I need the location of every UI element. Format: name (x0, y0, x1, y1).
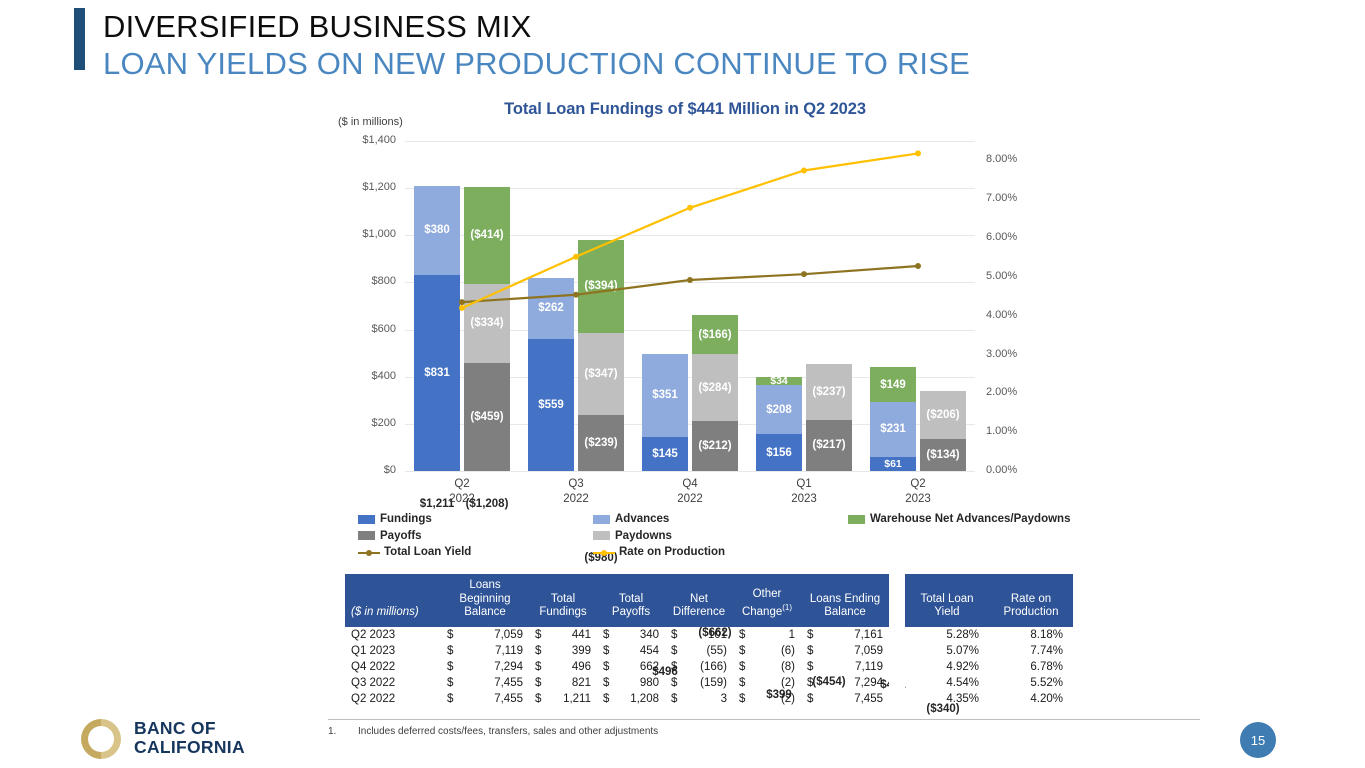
bar-segment: ($217) (806, 420, 852, 471)
legend-label: Rate on Production (619, 546, 725, 558)
table-column-header-line: Difference (671, 606, 727, 620)
y-axis-tick-left: $400 (372, 370, 405, 382)
legend-item[interactable]: Fundings (358, 513, 432, 525)
table-cell-currency-symbol: $ (529, 627, 547, 643)
bar-segment: $262 (528, 278, 574, 340)
bar-segment: $831 (414, 275, 460, 471)
table-cell-gap (889, 659, 905, 675)
footnote-text: Includes deferred costs/fees, transfers,… (358, 726, 658, 737)
bar-segment: ($347) (578, 333, 624, 415)
table-cell-total-payoffs: 1,208 (615, 691, 665, 707)
slide: DIVERSIFIED BUSINESS MIX LOAN YIELDS ON … (0, 0, 1365, 768)
table-cell-loans-beginning-balance: 7,059 (459, 627, 529, 643)
table-header: ($ in millions)LoansBeginningBalanceTota… (345, 574, 1073, 627)
bar-segment: ($206) (920, 391, 966, 440)
legend-label: Payoffs (380, 530, 422, 542)
table-cell-other-change: (8) (751, 659, 801, 675)
y-axis-tick-right: 7.00% (975, 192, 1017, 204)
table-cell-total-fundings: 1,211 (547, 691, 597, 707)
x-axis-category-line: 2022 (642, 492, 738, 507)
bar-group: $145$351$496($212)($284)($166)($662) (642, 141, 738, 471)
bar-segment: ($284) (692, 354, 738, 421)
table-cell-currency-symbol: $ (441, 627, 459, 643)
legend-swatch-icon (358, 515, 375, 524)
table-column-header-line: Balance (447, 606, 523, 620)
table-column-header-line: Fundings (535, 606, 591, 620)
table-column-header: Loans EndingBalance (801, 574, 889, 627)
table-cell-period: Q3 2022 (345, 675, 441, 691)
bar-segment: ($239) (578, 415, 624, 471)
legend-line-icon (358, 548, 380, 557)
bar-group: $61$231$149$441($134)($206)($340) (870, 141, 966, 471)
x-axis-category-line: Q3 (528, 477, 624, 492)
table-cell-total-fundings: 441 (547, 627, 597, 643)
footnote-marker: (1) (782, 603, 792, 612)
legend-row: PayoffsPaydowns (358, 530, 1058, 547)
table-cell-net-difference: (159) (683, 675, 733, 691)
y-axis-tick-right: 6.00% (975, 231, 1017, 243)
table-cell-rate-on-production: 5.52% (989, 675, 1073, 691)
table-cell-currency-symbol: $ (529, 643, 547, 659)
table-cell-loans-ending-balance: 7,455 (819, 691, 889, 707)
company-logo: BANC OF CALIFORNIA (78, 714, 338, 764)
table-column-header: ($ in millions) (345, 574, 441, 627)
table-cell-currency-symbol: $ (801, 675, 819, 691)
slide-header: DIVERSIFIED BUSINESS MIX LOAN YIELDS ON … (0, 0, 1365, 92)
table-cell-currency-symbol: $ (665, 643, 683, 659)
table-cell-currency-symbol: $ (665, 659, 683, 675)
table-column-header-line: Beginning (447, 593, 523, 607)
table-header-row: ($ in millions)LoansBeginningBalanceTota… (345, 574, 1073, 627)
page-title: DIVERSIFIED BUSINESS MIX (103, 9, 532, 45)
table-cell-currency-symbol: $ (597, 627, 615, 643)
y-axis-tick-right: 2.00% (975, 386, 1017, 398)
table-cell-period: Q4 2022 (345, 659, 441, 675)
y-axis-tick-left: $200 (372, 417, 405, 429)
y-axis-tick-right: 8.00% (975, 153, 1017, 165)
table-cell-other-change: (2) (751, 691, 801, 707)
legend-swatch-icon (593, 515, 610, 524)
financial-table-container: ($ in millions)LoansBeginningBalanceTota… (345, 574, 1073, 707)
table-cell-loans-beginning-balance: 7,119 (459, 643, 529, 659)
table-cell-currency-symbol: $ (733, 691, 751, 707)
table-column-header-line: Production (995, 606, 1067, 620)
bar-group: $156$208$34$399($217)($237)($454) (756, 141, 852, 471)
legend-label: Advances (615, 513, 669, 525)
table-cell-gap (889, 675, 905, 691)
table-column-header: NetDifference (665, 574, 733, 627)
table-cell-loans-beginning-balance: 7,455 (459, 691, 529, 707)
legend-line-icon (593, 548, 615, 557)
bar-segment: ($166) (692, 315, 738, 354)
table-cell-currency-symbol: $ (441, 643, 459, 659)
table-cell-loans-ending-balance: 7,059 (819, 643, 889, 659)
table-cell-currency-symbol: $ (441, 691, 459, 707)
table-column-header: TotalFundings (529, 574, 597, 627)
table-cell-currency-symbol: $ (597, 691, 615, 707)
legend-item[interactable]: Rate on Production (593, 546, 725, 558)
table-cell-gap (889, 691, 905, 707)
logo-line-1: BANC OF (134, 719, 245, 738)
chart-units-label: ($ in millions) (338, 116, 403, 128)
bar-segment: $380 (414, 186, 460, 276)
table-cell-currency-symbol: $ (733, 675, 751, 691)
table-cell-currency-symbol: $ (529, 691, 547, 707)
bar-segment: ($237) (806, 364, 852, 420)
table-cell-currency-symbol: $ (665, 691, 683, 707)
table-column-header: TotalPayoffs (597, 574, 665, 627)
table-cell-net-difference: 3 (683, 691, 733, 707)
table-cell-loans-ending-balance: 7,119 (819, 659, 889, 675)
y-axis-tick-right: 1.00% (975, 425, 1017, 437)
table-column-header-line: Loans Ending (807, 593, 883, 607)
table-cell-loans-beginning-balance: 7,455 (459, 675, 529, 691)
table-cell-currency-symbol: $ (529, 675, 547, 691)
table-column-header-line: Other (739, 588, 795, 602)
table-row: Q3 2022$7,455$821$980$(159)$(2)$7,2944.5… (345, 675, 1073, 691)
table-cell-currency-symbol: $ (801, 691, 819, 707)
table-row: Q2 2023$7,059$441$340$101$1$7,1615.28%8.… (345, 627, 1073, 643)
table-cell-currency-symbol: $ (597, 659, 615, 675)
table-cell-currency-symbol: $ (441, 659, 459, 675)
table-cell-currency-symbol: $ (733, 643, 751, 659)
x-axis-category-line: Q2 (870, 477, 966, 492)
table-cell-total-fundings: 821 (547, 675, 597, 691)
table-column-gap (889, 574, 905, 627)
table-column-header-line: Yield (911, 606, 983, 620)
logo-line-2: CALIFORNIA (134, 738, 245, 757)
x-axis-category-label: Q42022 (642, 477, 738, 507)
legend-item[interactable]: Advances (593, 513, 669, 525)
bar-segment: $156 (756, 434, 802, 471)
chart-title: Total Loan Fundings of $441 Million in Q… (330, 100, 1040, 119)
y-axis-tick-left: $600 (372, 323, 405, 335)
bar-segment: $231 (870, 402, 916, 456)
bar-segment: $149 (870, 367, 916, 402)
title-accent-bar (74, 8, 85, 70)
table-cell-net-difference: (55) (683, 643, 733, 659)
table-cell-other-change: (2) (751, 675, 801, 691)
footnote-divider (328, 719, 1200, 720)
table-cell-total-payoffs: 662 (615, 659, 665, 675)
bar-segment: $559 (528, 339, 574, 471)
bar-segment: ($134) (920, 439, 966, 471)
table-column-header: Total LoanYield (905, 574, 989, 627)
table-column-header-line: Total (603, 593, 659, 607)
legend-item[interactable]: Warehouse Net Advances/Paydowns (848, 513, 1070, 525)
table-cell-net-difference: 101 (683, 627, 733, 643)
table-cell-currency-symbol: $ (801, 627, 819, 643)
y-axis-tick-left: $1,400 (362, 134, 405, 146)
table-cell-currency-symbol: $ (529, 659, 547, 675)
table-column-header: Rate onProduction (989, 574, 1073, 627)
table-column-header: LoansBeginningBalance (441, 574, 529, 627)
x-axis-category-label: Q32022 (528, 477, 624, 507)
table-cell-currency-symbol: $ (733, 627, 751, 643)
y-axis-tick-right: 0.00% (975, 464, 1017, 476)
x-axis-category-line: 2023 (870, 492, 966, 507)
financial-table: ($ in millions)LoansBeginningBalanceTota… (345, 574, 1073, 707)
table-cell-currency-symbol: $ (801, 643, 819, 659)
table-cell-currency-symbol: $ (665, 627, 683, 643)
table-cell-gap (889, 643, 905, 659)
bar-segment: ($212) (692, 421, 738, 471)
table-cell-rate-on-production: 8.18% (989, 627, 1073, 643)
bar-segment: ($414) (464, 187, 510, 285)
legend-label: Total Loan Yield (384, 546, 471, 558)
table-column-header-line: Loans (447, 579, 523, 593)
chart-legend: FundingsAdvancesWarehouse Net Advances/P… (358, 513, 1058, 563)
bar-group: $559$262$821($239)($347)($394)($980) (528, 141, 624, 471)
legend-row: Total Loan YieldRate on Production (358, 546, 1058, 563)
table-cell-total-loan-yield: 5.28% (905, 627, 989, 643)
legend-item[interactable]: Payoffs (358, 530, 422, 542)
table-cell-gap (889, 627, 905, 643)
bar-segment: $351 (642, 354, 688, 437)
bar-segment: ($334) (464, 284, 510, 363)
table-cell-currency-symbol: $ (733, 659, 751, 675)
bar-segment: $145 (642, 437, 688, 471)
y-axis-tick-left: $0 (384, 464, 405, 476)
legend-swatch-icon (848, 515, 865, 524)
gridline (405, 471, 975, 472)
table-cell-period: Q2 2023 (345, 627, 441, 643)
x-axis-category-line: Q4 (642, 477, 738, 492)
legend-swatch-icon (593, 531, 610, 540)
x-axis-category-line: 2022 (528, 492, 624, 507)
table-cell-total-fundings: 496 (547, 659, 597, 675)
page-subtitle: LOAN YIELDS ON NEW PRODUCTION CONTINUE T… (103, 46, 970, 82)
table-column-header: OtherChange(1) (733, 574, 801, 627)
legend-label: Warehouse Net Advances/Paydowns (870, 513, 1070, 525)
y-axis-tick-left: $1,200 (362, 181, 405, 193)
table-row: Q4 2022$7,294$496$662$(166)$(8)$7,1194.9… (345, 659, 1073, 675)
bar-segment: ($459) (464, 363, 510, 471)
x-axis-category-line: Q2 (414, 477, 510, 492)
table-cell-loans-ending-balance: 7,294 (819, 675, 889, 691)
table-cell-rate-on-production: 6.78% (989, 659, 1073, 675)
table-column-header-line: Change(1) (739, 601, 795, 619)
table-column-header-line: Total (535, 593, 591, 607)
y-axis-tick-left: $800 (372, 275, 405, 287)
table-cell-loans-ending-balance: 7,161 (819, 627, 889, 643)
x-axis-category-label: Q22023 (870, 477, 966, 507)
legend-swatch-icon (358, 531, 375, 540)
x-axis-category-line: 2022 (414, 492, 510, 507)
table-column-header-line: Net (671, 593, 727, 607)
table-cell-total-payoffs: 340 (615, 627, 665, 643)
legend-label: Paydowns (615, 530, 672, 542)
legend-label: Fundings (380, 513, 432, 525)
y-axis-tick-left: $1,000 (362, 228, 405, 240)
y-axis-tick-right: 5.00% (975, 270, 1017, 282)
x-axis-category-label: Q12023 (756, 477, 852, 507)
legend-row: FundingsAdvancesWarehouse Net Advances/P… (358, 513, 1058, 530)
chart-container: Total Loan Fundings of $441 Million in Q… (330, 100, 1040, 570)
table-cell-other-change: 1 (751, 627, 801, 643)
y-axis-tick-right: 4.00% (975, 309, 1017, 321)
table-column-header-line: Total Loan (911, 593, 983, 607)
table-cell-rate-on-production: 7.74% (989, 643, 1073, 659)
legend-item[interactable]: Total Loan Yield (358, 546, 471, 558)
table-cell-total-payoffs: 980 (615, 675, 665, 691)
table-cell-total-loan-yield: 5.07% (905, 643, 989, 659)
table-column-header-line: Rate on (995, 593, 1067, 607)
logo-text: BANC OF CALIFORNIA (134, 719, 245, 757)
x-axis-category-label: Q22022 (414, 477, 510, 507)
table-cell-total-loan-yield: 4.54% (905, 675, 989, 691)
table-cell-currency-symbol: $ (597, 675, 615, 691)
banc-of-california-mark-icon (78, 716, 124, 762)
y-axis-tick-right: 3.00% (975, 348, 1017, 360)
table-cell-currency-symbol: $ (597, 643, 615, 659)
table-cell-period: Q1 2023 (345, 643, 441, 659)
table-cell-period: Q2 2022 (345, 691, 441, 707)
bar-group: $831$380$1,211($459)($334)($414)($1,208) (414, 141, 510, 471)
table-row: Q2 2022$7,455$1,211$1,208$3$(2)$7,4554.3… (345, 691, 1073, 707)
table-cell-other-change: (6) (751, 643, 801, 659)
table-cell-total-payoffs: 454 (615, 643, 665, 659)
table-body: Q2 2023$7,059$441$340$101$1$7,1615.28%8.… (345, 627, 1073, 707)
table-row: Q1 2023$7,119$399$454$(55)$(6)$7,0595.07… (345, 643, 1073, 659)
table-cell-rate-on-production: 4.20% (989, 691, 1073, 707)
table-cell-total-loan-yield: 4.35% (905, 691, 989, 707)
table-cell-loans-beginning-balance: 7,294 (459, 659, 529, 675)
legend-item[interactable]: Paydowns (593, 530, 672, 542)
bar-segment: $208 (756, 385, 802, 434)
page-number-badge: 15 (1240, 722, 1276, 758)
bar-segment: $61 (870, 457, 916, 471)
table-cell-total-fundings: 399 (547, 643, 597, 659)
table-cell-net-difference: (166) (683, 659, 733, 675)
table-column-header-line: Payoffs (603, 606, 659, 620)
x-axis-category-line: Q1 (756, 477, 852, 492)
footnote: 1.Includes deferred costs/fees, transfer… (328, 726, 658, 737)
chart-plot-area: $0$200$400$600$800$1,000$1,200$1,400 0.0… (405, 141, 975, 471)
table-cell-total-loan-yield: 4.92% (905, 659, 989, 675)
table-cell-currency-symbol: $ (801, 659, 819, 675)
x-axis-category-line: 2023 (756, 492, 852, 507)
table-column-header-line: ($ in millions) (351, 606, 435, 620)
bar-segment: $34 (756, 377, 802, 385)
bar-segment: ($394) (578, 240, 624, 333)
table-cell-currency-symbol: $ (665, 675, 683, 691)
table-column-header-line: Balance (807, 606, 883, 620)
table-cell-currency-symbol: $ (441, 675, 459, 691)
